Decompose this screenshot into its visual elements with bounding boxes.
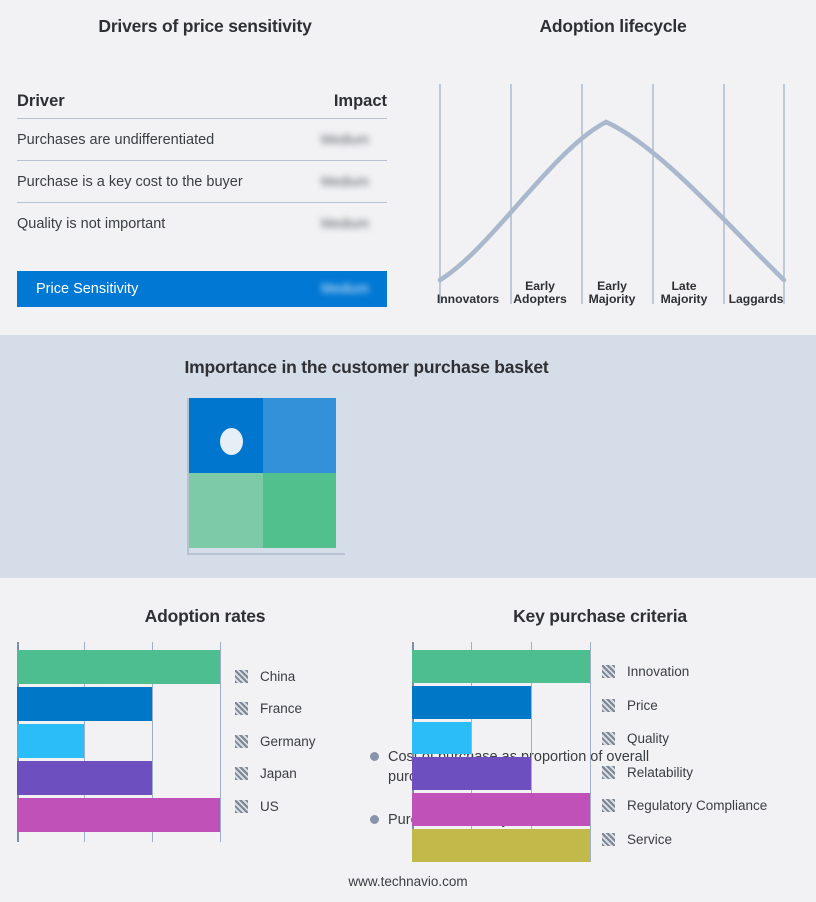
table-row: Purchase is a key cost to the buyer Medi… [17, 161, 387, 202]
lifecycle-segment-innovators: Innovators [432, 262, 504, 308]
panel-drivers-of-price-sensitivity: Drivers of price sensitivity Driver Impa… [0, 0, 410, 335]
segment-line-2: Adopters [513, 293, 567, 307]
driver-label: Quality is not important [17, 216, 165, 232]
matrix-x-axis-line [187, 553, 345, 555]
price-sensitivity-highlight-row: Price Sensitivity Medium [17, 271, 387, 307]
criteria-title: Key purchase criteria [400, 606, 800, 627]
impact-text-redacted: Medium [321, 216, 369, 231]
hatched-swatch-icon [235, 735, 248, 748]
footer-url: www.technavio.com [0, 874, 816, 889]
bar-regulatory-compliance [412, 793, 592, 826]
list-item: Japan [235, 758, 316, 791]
matrix-quadrants [189, 398, 336, 548]
list-item: Quality [602, 722, 767, 756]
key-purchase-criteria-chart [412, 642, 592, 862]
highlight-driver-label: Price Sensitivity [36, 281, 138, 297]
column-header-impact: Impact [334, 92, 387, 111]
legend-label: Price [627, 698, 658, 713]
adoption-bars [17, 642, 223, 842]
quadrant-top-right [263, 398, 337, 473]
segment-line-2: Innovators [437, 293, 499, 307]
hatched-swatch-icon [602, 665, 615, 678]
criteria-bars [412, 642, 592, 862]
legend-label: Relatability [627, 765, 693, 780]
lifecycle-segment-early-adopters: Early Adopters [504, 262, 576, 308]
adoption-legend: China France Germany Japan US [235, 660, 316, 823]
adoption-title: Adoption rates [0, 606, 410, 627]
lifecycle-segment-late-majority: Late Majority [648, 262, 720, 308]
bar-us [17, 798, 223, 832]
legend-label: China [260, 669, 295, 684]
impact-text-redacted: Medium [321, 281, 369, 296]
hatched-swatch-icon [602, 833, 615, 846]
panel-adoption-lifecycle: Adoption lifecycle Innovators [410, 0, 816, 335]
bar-france [17, 687, 223, 721]
bell-curve-path [440, 122, 784, 280]
lifecycle-segment-early-majority: Early Majority [576, 262, 648, 308]
list-item: Service [602, 823, 767, 857]
legend-label: Japan [260, 766, 297, 781]
lifecycle-segment-laggards: Laggards [720, 262, 792, 308]
legend-label: US [260, 799, 279, 814]
list-item: Regulatory Compliance [602, 789, 767, 823]
lifecycle-segment-labels: Innovators Early Adopters Early Majority… [432, 262, 792, 308]
basket-title: Importance in the customer purchase bask… [0, 357, 733, 378]
quadrant-bottom-right [263, 473, 337, 548]
legend-label: Quality [627, 731, 669, 746]
hatched-swatch-icon [235, 767, 248, 780]
hatched-swatch-icon [602, 799, 615, 812]
impact-value: Medium [321, 216, 387, 232]
hatched-swatch-icon [235, 800, 248, 813]
list-item: Innovation [602, 655, 767, 689]
legend-label: Innovation [627, 664, 689, 679]
hatched-swatch-icon [602, 732, 615, 745]
segment-line-1: Late [671, 280, 696, 294]
list-item: China [235, 660, 316, 693]
infographic-page: Drivers of price sensitivity Driver Impa… [0, 0, 816, 902]
drivers-title: Drivers of price sensitivity [0, 16, 410, 37]
bar-relatability [412, 757, 592, 790]
position-marker-icon [220, 428, 243, 455]
bar-service [412, 829, 592, 862]
criteria-legend: Innovation Price Quality Relatability Re… [602, 655, 767, 856]
list-item: Germany [235, 725, 316, 758]
drivers-table-header: Driver Impact [17, 92, 387, 118]
hatched-swatch-icon [235, 702, 248, 715]
column-header-driver: Driver [17, 92, 65, 111]
highlight-impact-value: Medium [321, 280, 387, 298]
table-row: Purchases are undifferentiated Medium [17, 119, 387, 160]
lifecycle-chart: Innovators Early Adopters Early Majority… [432, 80, 792, 308]
bar-japan [17, 761, 223, 795]
legend-label: Service [627, 832, 672, 847]
list-item: Price [602, 689, 767, 723]
adoption-rates-chart [17, 642, 223, 842]
driver-label: Purchases are undifferentiated [17, 132, 214, 148]
bar-china [17, 650, 223, 684]
list-item: Relatability [602, 756, 767, 790]
segment-line-1: Early [525, 280, 555, 294]
impact-value: Medium [321, 132, 387, 148]
bar-germany [17, 724, 223, 758]
panel-importance-purchase-basket: Importance in the customer purchase bask… [0, 335, 816, 578]
impact-text-redacted: Medium [321, 132, 369, 147]
legend-label: France [260, 701, 302, 716]
table-row: Quality is not important Medium [17, 203, 387, 244]
segment-line-2: Majority [589, 293, 636, 307]
segment-line-2: Laggards [729, 293, 784, 307]
lifecycle-title: Adoption lifecycle [410, 16, 816, 37]
impact-text-redacted: Medium [321, 174, 369, 189]
list-item: US [235, 790, 316, 823]
drivers-table: Driver Impact Purchases are undifferenti… [17, 92, 387, 244]
hatched-swatch-icon [235, 670, 248, 683]
segment-line-1: Early [597, 280, 627, 294]
quadrant-matrix-chart [183, 398, 358, 558]
criteria-plot-area [412, 642, 592, 862]
hatched-swatch-icon [602, 699, 615, 712]
bar-quality [412, 722, 592, 755]
impact-value: Medium [321, 174, 387, 190]
legend-label: Germany [260, 734, 316, 749]
bar-price [412, 686, 592, 719]
quadrant-bottom-left [189, 473, 263, 548]
legend-label: Regulatory Compliance [627, 798, 767, 813]
quadrant-top-left [189, 398, 263, 473]
driver-label: Purchase is a key cost to the buyer [17, 174, 243, 190]
adoption-plot-area [17, 642, 223, 842]
list-item: France [235, 693, 316, 726]
bar-innovation [412, 650, 592, 683]
segment-line-2: Majority [661, 293, 708, 307]
hatched-swatch-icon [602, 766, 615, 779]
